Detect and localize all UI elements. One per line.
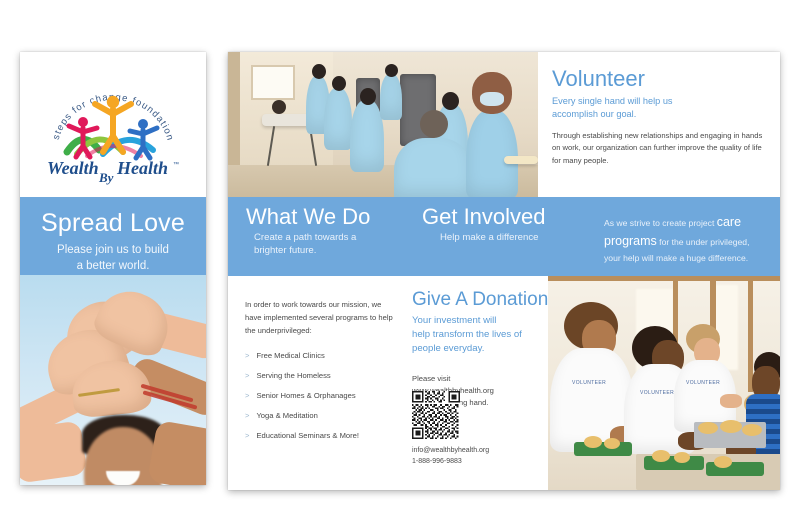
wealth-by-health-logo: steps for change foundation [43, 78, 183, 186]
list-item-label: Serving the Homeless [256, 371, 330, 381]
contact-info: info@wealthbyhealth.org 1-888-996-9883 [412, 446, 489, 468]
spread-love-subtitle-line1: Please join us to build [57, 244, 169, 256]
spread-bottom-area: In order to work towards our mission, we… [228, 276, 780, 490]
get-involved-title: Get Involved [422, 206, 600, 228]
programs-list: > Free Medical Clinics > Serving the Hom… [245, 351, 395, 440]
brochure-mockup-canvas: steps for change foundation [0, 0, 800, 532]
list-item: > Free Medical Clinics [245, 351, 395, 361]
serving-photo: VOLUNTEER VOLUNTEER VOLUNTEER [548, 276, 780, 490]
care-note-tail: your help will make a huge difference. [604, 253, 748, 263]
chevron-right-icon: > [245, 371, 249, 381]
cover-panel: steps for change foundation [20, 52, 206, 485]
list-item-label: Free Medical Clinics [256, 351, 324, 361]
what-we-do-subtitle-line2: brighter future. [254, 245, 316, 256]
donation-subtitle-line1: Your investment will [412, 315, 496, 326]
spread-top-row: Volunteer Every single hand will help us… [228, 52, 780, 197]
list-item-label: Yoga & Meditation [256, 411, 317, 421]
donation-visit-line1: Please visit [412, 374, 450, 383]
volunteer-copy: Volunteer Every single hand will help us… [538, 52, 780, 197]
list-item: > Senior Homes & Orphanages [245, 391, 395, 401]
contact-phone[interactable]: 1-888-996-9883 [412, 458, 462, 465]
what-we-do-title: What We Do [246, 206, 414, 228]
care-note-emphasis-programs: programs [604, 234, 657, 248]
cover-photo-hands [20, 275, 206, 485]
programs-intro: In order to work towards our mission, we… [245, 298, 395, 337]
what-we-do-subtitle: Create a path towards a brighter future. [246, 232, 414, 258]
donation-subtitle-line3: people everyday. [412, 343, 484, 354]
list-item: > Yoga & Meditation [245, 411, 395, 421]
list-item-label: Senior Homes & Orphanages [256, 391, 355, 401]
spread-love-title: Spread Love [20, 197, 206, 236]
volunteer-title: Volunteer [552, 68, 764, 90]
logo-area: steps for change foundation [20, 52, 206, 197]
svg-text:Health: Health [116, 158, 168, 178]
chevron-right-icon: > [245, 431, 249, 441]
svg-text:By: By [98, 170, 114, 185]
spread-love-subtitle: Please join us to build a better world. [20, 236, 206, 275]
volunteer-subtitle: Every single hand will help us accomplis… [552, 95, 764, 121]
spread-love-subtitle-line2: a better world. [77, 260, 150, 272]
volunteer-subtitle-line2: accomplish our goal. [552, 109, 636, 119]
list-item: > Serving the Homeless [245, 371, 395, 381]
mid-blue-band: What We Do Create a path towards a brigh… [228, 197, 780, 276]
get-involved-block: Get Involved Help make a difference [414, 197, 600, 245]
care-note-lead: As we strive to create project [604, 218, 717, 228]
care-note-mid: for the under privileged, [657, 237, 750, 247]
chevron-right-icon: > [245, 351, 249, 361]
care-note-text: As we strive to create project careprogr… [604, 213, 766, 265]
donation-subtitle-line2: help transform the lives of [412, 329, 522, 340]
volunteer-subtitle-line1: Every single hand will help us [552, 96, 673, 106]
get-involved-subtitle: Help make a difference [422, 232, 600, 245]
list-item-label: Educational Seminars & More! [256, 431, 359, 441]
donation-subtitle: Your investment will help transform the … [412, 314, 562, 356]
volunteer-body: Through establishing new relationships a… [552, 130, 764, 167]
list-item: > Educational Seminars & More! [245, 431, 395, 441]
contact-email[interactable]: info@wealthbyhealth.org [412, 447, 489, 454]
chevron-right-icon: > [245, 391, 249, 401]
donation-title: Give A Donation [412, 290, 562, 309]
clinic-photo [228, 52, 538, 197]
qr-code-icon[interactable] [412, 391, 460, 439]
spread-love-band: Spread Love Please join us to build a be… [20, 197, 206, 275]
care-note-emphasis-care: care [717, 215, 741, 229]
spread-panel: Volunteer Every single hand will help us… [228, 52, 780, 490]
care-note-block: As we strive to create project careprogr… [600, 197, 780, 265]
what-we-do-block: What We Do Create a path towards a brigh… [228, 197, 414, 258]
programs-block: In order to work towards our mission, we… [245, 298, 395, 450]
svg-text:™: ™ [173, 161, 179, 168]
chevron-right-icon: > [245, 411, 249, 421]
what-we-do-subtitle-line1: Create a path towards a [254, 232, 356, 243]
svg-text:Wealth: Wealth [47, 158, 99, 178]
